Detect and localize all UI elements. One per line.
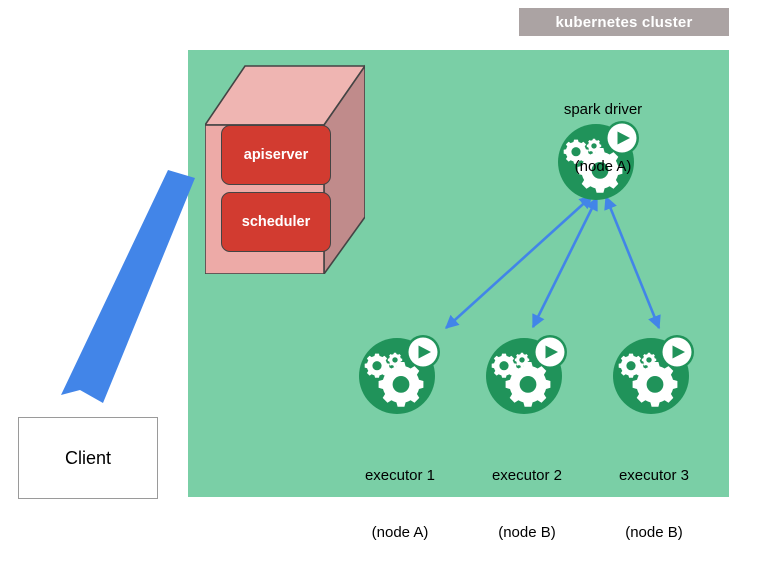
pod-gears-play-icon [484, 330, 570, 416]
pod-gears-play-icon [611, 330, 697, 416]
control-plane-component-scheduler[interactable]: scheduler [221, 192, 331, 252]
client-box[interactable]: Client [18, 417, 158, 499]
pod-gears-play-icon [357, 330, 443, 416]
control-plane-cube: apiserver scheduler [205, 62, 365, 274]
kubernetes-cluster-banner: kubernetes cluster [519, 8, 729, 36]
diagram-canvas: kubernetes cluster apiserver scheduler [0, 0, 761, 516]
pod-label-spark-driver: spark driver (node A) [528, 62, 678, 214]
pod-executor-3[interactable] [611, 330, 697, 416]
pod-executor-1[interactable] [357, 330, 443, 416]
pod-executor-2[interactable] [484, 330, 570, 416]
pod-label-line2: (node B) [579, 523, 729, 542]
pod-label-line2: (node A) [528, 157, 678, 176]
banner-arrow-icon [55, 160, 215, 410]
control-plane-component-apiserver[interactable]: apiserver [221, 125, 331, 185]
spark-submit-arrow [55, 160, 215, 410]
pod-label-executor-3: executor 3 (node B) [579, 428, 729, 580]
pod-label-line1: executor 3 [579, 466, 729, 485]
pod-label-line1: spark driver [528, 100, 678, 119]
control-plane-component-list: apiserver scheduler [221, 125, 331, 252]
